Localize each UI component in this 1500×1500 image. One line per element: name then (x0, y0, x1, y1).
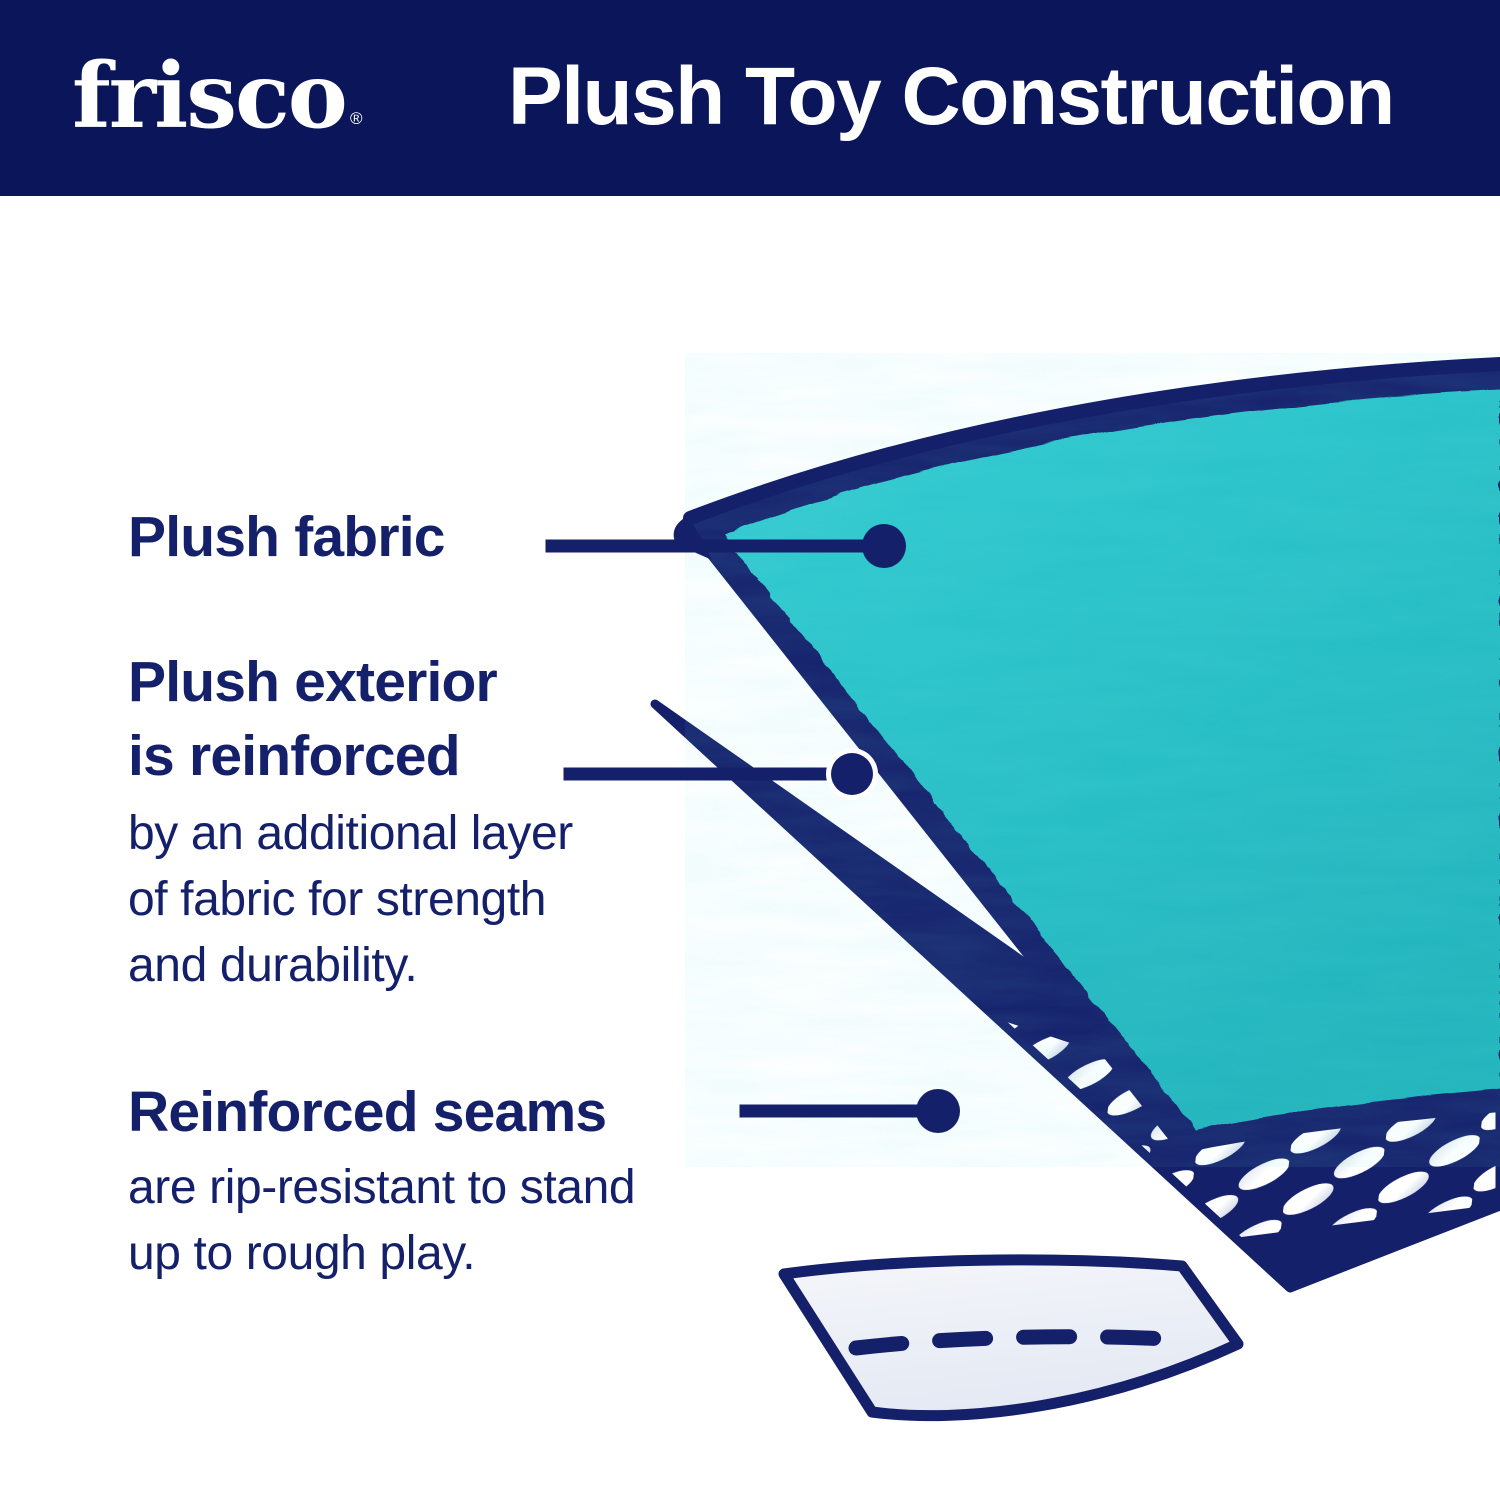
leader-dot-reinforced-seams (916, 1089, 960, 1133)
callout-plush-fabric-heading: Plush fabric (128, 500, 445, 574)
callout-reinforced-seams-heading: Reinforced seams (128, 1075, 635, 1149)
callout-plush-fabric: Plush fabric (128, 500, 445, 574)
frisco-logo-wordmark: frisco (72, 44, 346, 148)
callout-reinforced-seams-body-line-1: are rip-resistant to stand (128, 1155, 635, 1221)
callout-reinforced-seams-body: are rip-resistant to stand up to rough p… (128, 1155, 635, 1287)
leader-reinforced-seams (746, 1089, 960, 1133)
callout-plush-exterior-body-line-1: by an additional layer (128, 801, 573, 867)
page-title: Plush Toy Construction (508, 47, 1394, 147)
callout-plush-exterior-heading-line-2: is reinforced (128, 719, 573, 793)
callout-plush-exterior-heading-line-1: Plush exterior (128, 645, 573, 719)
seam-flap (784, 1260, 1238, 1416)
callout-plush-exterior-body-line-2: of fabric for strength (128, 867, 573, 933)
callout-plush-exterior-body-line-3: and durability. (128, 933, 573, 999)
plush-fabric-layer (674, 362, 1500, 1154)
callout-plush-exterior-body: by an additional layer of fabric for str… (128, 801, 573, 999)
infographic-page: frisco ® Plush Toy Construction (0, 0, 1500, 1500)
frisco-logo: frisco ® (72, 44, 382, 148)
header-bar: frisco ® Plush Toy Construction (0, 0, 1500, 196)
leader-dot-plush-fabric (862, 524, 906, 568)
callout-reinforced-seams-body-line-2: up to rough play. (128, 1221, 635, 1287)
leader-dot-plush-exterior (831, 753, 873, 795)
seam-flap-shape (784, 1260, 1238, 1416)
callout-reinforced-seams: Reinforced seams are rip-resistant to st… (128, 1075, 635, 1287)
registered-trademark-icon: ® (350, 110, 363, 127)
callout-plush-exterior: Plush exterior is reinforced by an addit… (128, 645, 573, 999)
